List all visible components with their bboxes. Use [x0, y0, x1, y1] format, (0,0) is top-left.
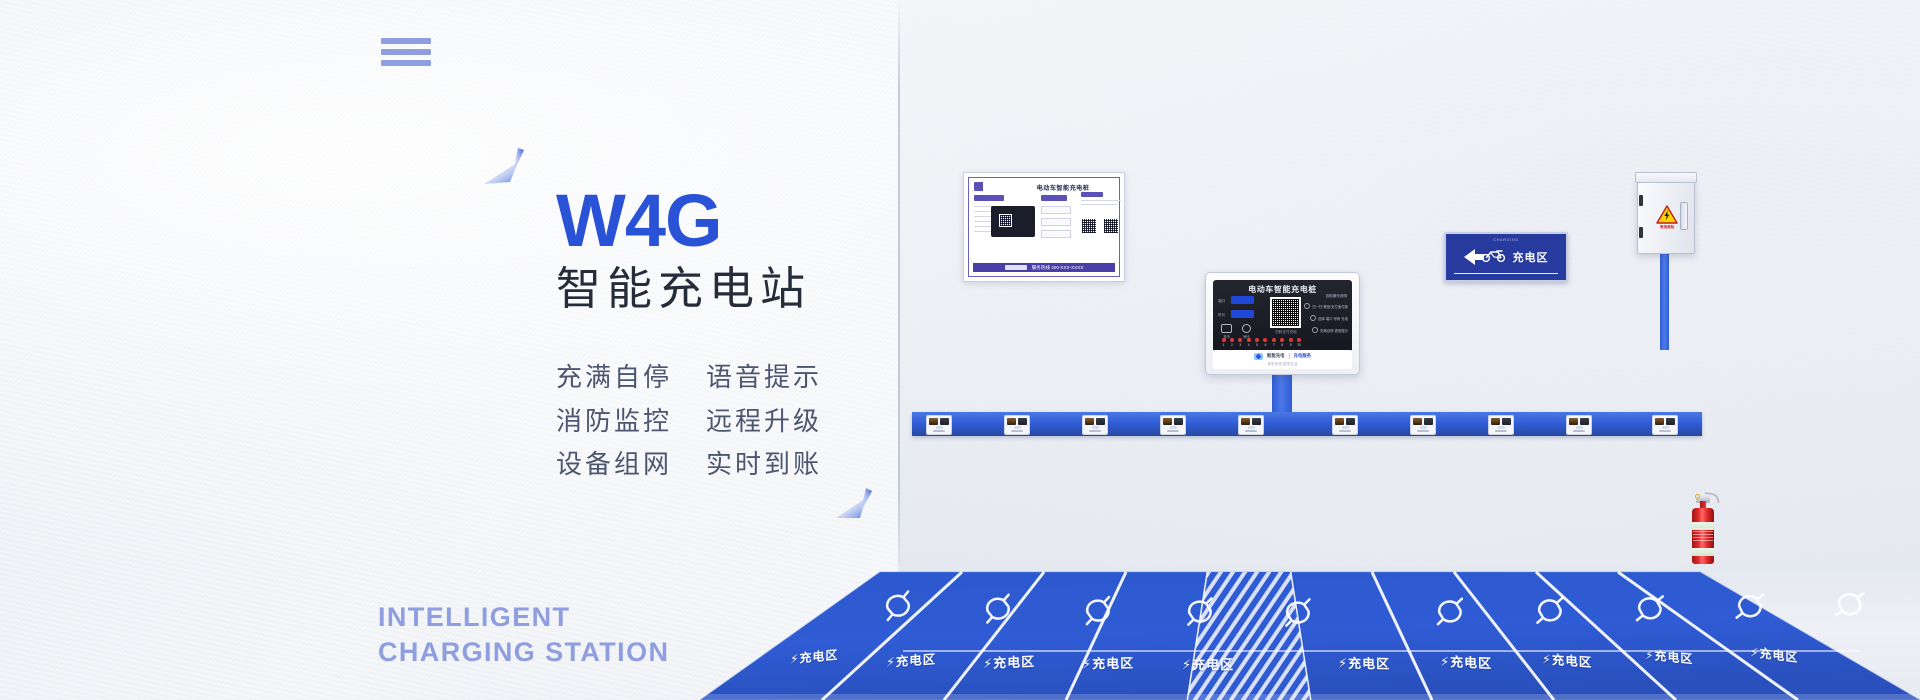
port-indicator[interactable]: 5	[1255, 338, 1260, 347]
pile-instruction-row-1: 扫一扫 微信/支付宝付款	[1304, 303, 1348, 309]
poster-badge-1	[974, 195, 1004, 201]
feature-item-2: 语音提示	[706, 362, 822, 395]
pile-brand-tag: 充电服务	[1294, 353, 1312, 359]
charging-pile-qr-caption: 扫码支付充电	[1263, 330, 1309, 335]
autostop-icon	[1312, 327, 1318, 333]
bay-label: ⚡充电区	[983, 651, 1035, 672]
port-indicator[interactable]: 4	[1246, 338, 1251, 347]
feature-item-6: 实时到账	[706, 449, 822, 482]
room-back-wall	[898, 0, 1920, 580]
poster-badge-3	[1081, 192, 1103, 197]
charging-pile[interactable]: 电动车智能充电桩 端口 时长 扫码支付充电 自助操作说明 扫一扫 微信/支付宝付…	[1205, 272, 1360, 375]
pile-brand-sub: 安全充电 智享生活	[1268, 361, 1298, 366]
pile-instruction-text-1: 扫一扫 微信/支付宝付款	[1312, 304, 1348, 309]
poster-badge-2	[1041, 195, 1067, 201]
high-voltage-warning-icon: 有电危险	[1656, 205, 1678, 231]
port-indicator[interactable]: 1	[1221, 338, 1226, 347]
direction-sign-underline	[1454, 273, 1558, 275]
bay-label: ⚡充电区	[1542, 648, 1592, 671]
pile-instruction-text-2: 选择 端口 号码 充电	[1318, 316, 1348, 321]
power-socket-icon[interactable]	[1238, 415, 1264, 435]
bay-label: ⚡充电区	[1440, 651, 1492, 672]
feature-item-5: 设备组网	[556, 449, 672, 482]
direction-sign[interactable]: CHARGING 充电区	[1444, 232, 1568, 282]
extinguisher-label	[1693, 528, 1713, 541]
banner-stage: W4G 智能充电站 充满自停 语音提示 消防监控 远程升级 设备组网 实时到账 …	[0, 0, 1920, 700]
brand-mark-icon	[1254, 353, 1263, 360]
menu-bar-1	[381, 38, 431, 44]
power-socket-icon[interactable]	[1004, 415, 1030, 435]
room-corner-edge	[898, 0, 900, 575]
wall-poster[interactable]: 电动车智能充电桩 服务热线 400-XXX-XXXX	[963, 172, 1125, 282]
poster-device-qr	[999, 214, 1012, 227]
poster-footer: 服务热线 400-XXX-XXXX	[973, 263, 1115, 272]
cabinet-conduit	[1660, 252, 1669, 350]
poster-footer-text: 服务热线 400-XXX-XXXX	[973, 263, 1115, 272]
english-line-1: INTELLIGENT	[378, 600, 669, 635]
scan-icon	[1304, 303, 1310, 309]
left-arrow-icon	[1464, 249, 1475, 265]
cabinet-warning-text: 有电危险	[1656, 225, 1678, 230]
port-indicator[interactable]: 8	[1280, 338, 1285, 347]
wall-socket-rail	[912, 412, 1702, 436]
poster-qr-pay[interactable]	[1081, 218, 1097, 234]
ebike-icon	[1481, 248, 1507, 267]
poster-rule-7	[1081, 200, 1121, 201]
port-indicator[interactable]: 9	[1288, 338, 1293, 347]
decor-arrow-shard-bottom	[836, 488, 878, 532]
power-socket-icon[interactable]	[1082, 415, 1108, 435]
pile-instruction-row-2: 选择 端口 号码 充电	[1310, 315, 1348, 321]
poster-step-1	[1041, 206, 1071, 214]
power-socket-icon[interactable]	[926, 415, 952, 435]
extinguisher-safety-pin	[1695, 494, 1700, 499]
poster-title: 电动车智能充电桩	[1013, 183, 1113, 192]
poster-qr-wechat[interactable]	[1103, 218, 1119, 234]
port-indicator[interactable]: 7	[1271, 338, 1276, 347]
bay-label: ⚡充电区	[886, 648, 936, 671]
charging-pile-qr-icon[interactable]	[1270, 297, 1301, 328]
pile-payment-icons: 投币 刷卡	[1221, 324, 1251, 339]
cabinet-hinge-bottom	[1639, 227, 1643, 238]
poster-hotline: 服务热线 400-XXX-XXXX	[1032, 265, 1084, 271]
power-socket-icon[interactable]	[1652, 415, 1678, 435]
cabinet-top-cap	[1635, 172, 1697, 183]
lcd-label-duration: 时长	[1218, 313, 1226, 318]
electrical-cabinet[interactable]: 有电危险	[1637, 178, 1695, 254]
power-socket-icon[interactable]	[1566, 415, 1592, 435]
bay-label: ⚡充电区	[1082, 653, 1134, 673]
coin-slot-icon[interactable]: 投币	[1221, 324, 1232, 339]
lcd-label-port: 端口	[1218, 299, 1226, 304]
feature-item-4: 远程升级	[706, 406, 822, 439]
feature-list: 充满自停 语音提示 消防监控 远程升级 设备组网 实时到账	[556, 362, 822, 482]
cabinet-handle[interactable]	[1680, 202, 1688, 230]
lcd-display-port	[1231, 296, 1254, 304]
direction-sign-label: 充电区	[1513, 249, 1549, 265]
port-indicator[interactable]: 3	[1238, 338, 1243, 347]
english-tagline: INTELLIGENT CHARGING STATION	[378, 600, 669, 669]
card-reader-icon[interactable]: 刷卡	[1242, 324, 1251, 339]
bay-label: ⚡充电区	[1338, 653, 1390, 673]
port-indicator[interactable]: 10	[1297, 338, 1302, 347]
charging-pile-right-heading: 自助操作说明	[1325, 294, 1347, 299]
english-line-2: CHARGING STATION	[378, 635, 669, 670]
extinguisher-band-bottom	[1692, 548, 1714, 556]
power-socket-icon[interactable]	[1410, 415, 1436, 435]
poster-step-3	[1041, 230, 1071, 238]
decor-arrow-shard-top	[484, 148, 528, 196]
pile-instruction-row-3: 充满自停 语音提示	[1312, 327, 1348, 333]
pile-brand-name: 智能充电	[1267, 353, 1285, 359]
poster-rule-8	[1081, 204, 1117, 205]
poster-footer-mark	[1005, 265, 1027, 270]
page-subtitle: 智能充电站	[556, 263, 811, 315]
menu-bar-3	[381, 60, 431, 66]
charging-pile-port-row[interactable]: 1 2 3 4 5 6 7 8 9 10	[1221, 338, 1302, 347]
pile-instruction-text-3: 充满自停 语音提示	[1320, 328, 1348, 333]
power-socket-icon[interactable]	[1488, 415, 1514, 435]
poster-logo	[974, 182, 1010, 191]
bay-label: ⚡充电区	[1182, 654, 1234, 673]
select-icon	[1310, 315, 1316, 321]
power-socket-icon[interactable]	[1332, 415, 1358, 435]
charging-pile-panel: 电动车智能充电桩 端口 时长 扫码支付充电 自助操作说明 扫一扫 微信/支付宝付…	[1213, 280, 1352, 352]
fire-extinguisher-icon	[1690, 492, 1716, 564]
poster-step-2	[1041, 218, 1071, 226]
feature-item-3: 消防监控	[556, 406, 672, 439]
power-socket-icon[interactable]	[1160, 415, 1186, 435]
lcd-display-duration	[1231, 310, 1254, 318]
port-indicator[interactable]: 2	[1229, 338, 1234, 347]
direction-sign-subtext: CHARGING	[1446, 237, 1566, 242]
page-title: W4G	[556, 186, 722, 256]
floor-base-band	[898, 566, 1920, 700]
menu-bar-2	[381, 49, 431, 55]
feature-item-1: 充满自停	[556, 362, 672, 395]
port-indicator[interactable]: 6	[1263, 338, 1268, 347]
brand-divider	[1289, 353, 1290, 359]
cabinet-hinge-top	[1639, 195, 1643, 206]
hamburger-menu-icon[interactable]	[381, 38, 431, 66]
poster-device-photo	[991, 206, 1035, 237]
poster-frame: 电动车智能充电桩 服务热线 400-XXX-XXXX	[968, 177, 1120, 277]
charging-pile-branding: 智能充电 充电服务 安全充电 智享生活	[1213, 350, 1352, 369]
